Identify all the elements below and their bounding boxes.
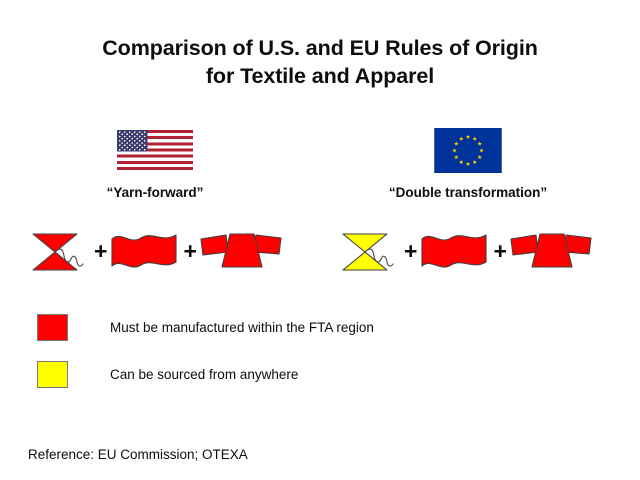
us-stage-fabric [109,226,181,276]
page-title-line-1: Comparison of U.S. and EU Rules of Origi… [0,34,640,62]
us-stage-yarn [30,226,92,276]
garment-icon [199,226,285,276]
fabric-swatch-icon [109,226,181,276]
legend-label-red: Must be manufactured within the FTA regi… [110,320,374,335]
us-rule-caption: “Yarn-forward” [55,185,255,200]
us-plus-1: + [94,240,107,263]
us-plus-2: + [183,240,196,263]
yarn-spool-icon [30,226,92,276]
legend-item-red: Must be manufactured within the FTA regi… [37,314,374,341]
reference-note: Reference: EU Commission; OTEXA [28,447,248,462]
slide-canvas: Comparison of U.S. and EU Rules of Origi… [0,0,640,480]
yarn-spool-icon [340,226,402,276]
legend-swatch-red [37,314,68,341]
fabric-swatch-icon [419,226,491,276]
eu-process-row: + + [340,222,595,280]
eu-stage-yarn [340,226,402,276]
united-states-flag [117,130,193,170]
us-stage-garment [199,226,285,276]
eu-plus-2: + [493,240,506,263]
eu-stage-fabric [419,226,491,276]
us-process-row: + + [30,222,285,280]
garment-icon [509,226,595,276]
eu-stage-garment [509,226,595,276]
legend-label-yellow: Can be sourced from anywhere [110,367,298,382]
european-union-flag [430,128,506,173]
page-title-line-2: for Textile and Apparel [0,62,640,90]
legend-swatch-yellow [37,361,68,388]
eu-plus-1: + [404,240,417,263]
eu-rule-caption: “Double transformation” [368,185,568,200]
page-title: Comparison of U.S. and EU Rules of Origi… [0,34,640,90]
legend-item-yellow: Can be sourced from anywhere [37,361,298,388]
